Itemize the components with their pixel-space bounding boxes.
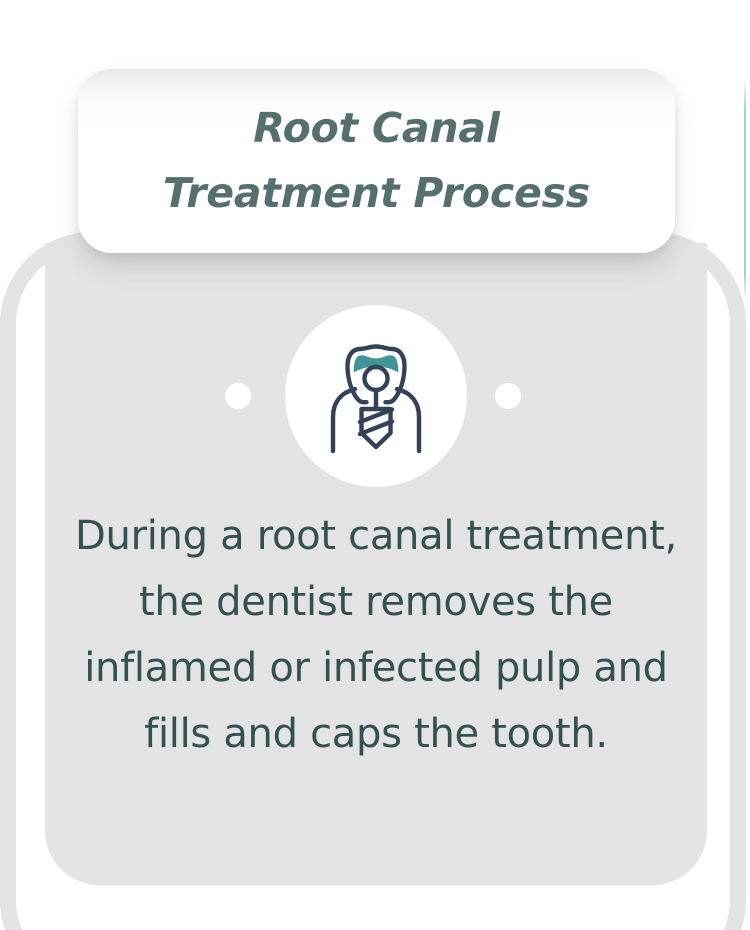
dot-right-icon xyxy=(495,383,521,409)
dot-left-icon xyxy=(225,383,251,409)
icon-badge xyxy=(285,305,467,487)
slide-canvas: Root Canal Treatment Process xyxy=(0,0,750,930)
root-canal-dental-drill-patient-icon xyxy=(313,333,439,459)
title-card: Root Canal Treatment Process xyxy=(78,69,675,253)
page-title: Root Canal Treatment Process xyxy=(139,96,614,226)
body-paragraph: During a root canal treatment, the denti… xyxy=(45,503,707,767)
right-edge-hairline xyxy=(744,78,746,300)
icon-row xyxy=(45,305,707,487)
